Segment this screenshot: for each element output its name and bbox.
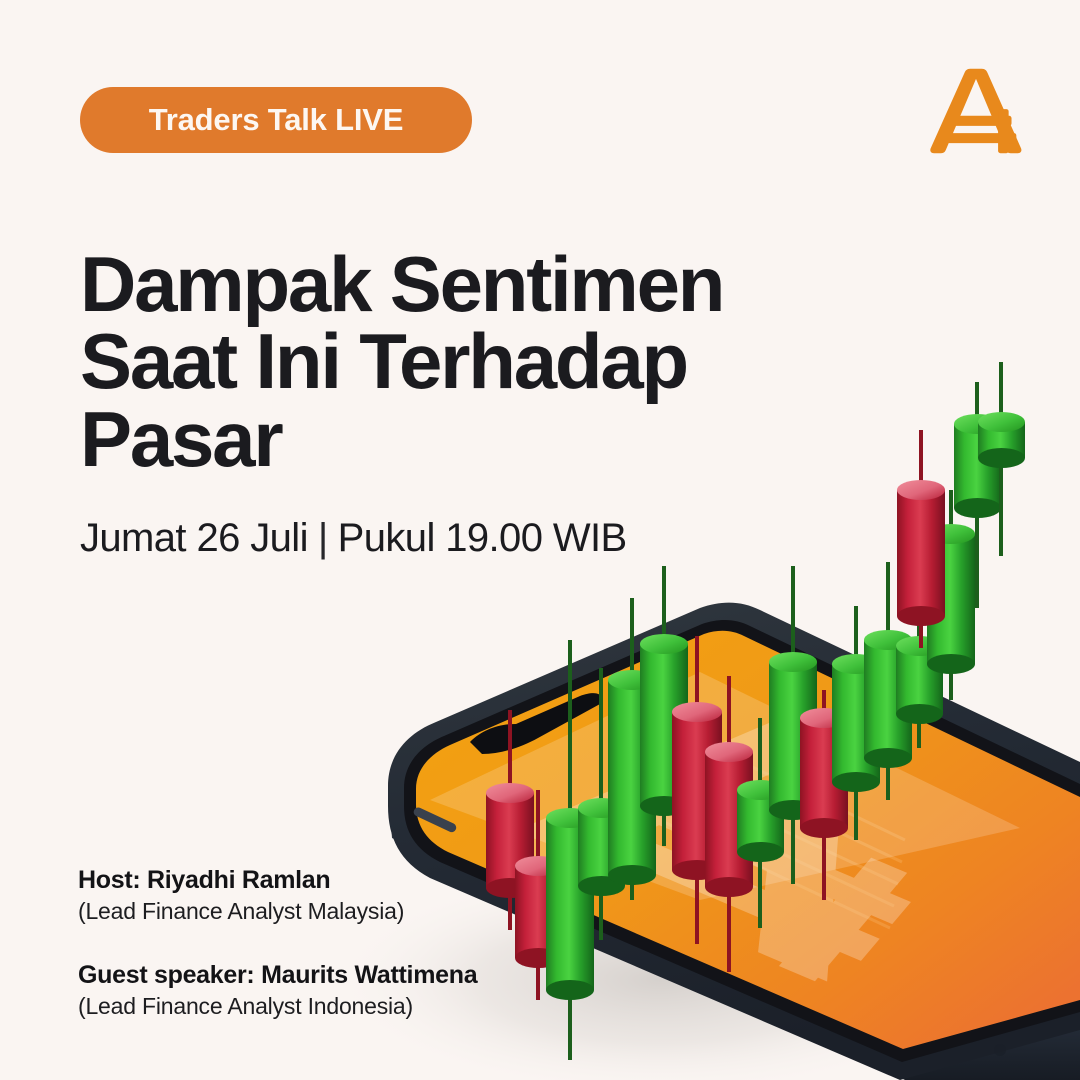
schedule-line: Jumat 26 Juli|Pukul 19.00 WIB [80, 516, 627, 561]
title-line-2: Saat Ini Terhadap [80, 323, 840, 400]
title-line-3: Pasar [80, 401, 840, 478]
credit-guest-name: Guest speaker: Maurits Wattimena [78, 961, 477, 990]
octa-a-logo-icon [928, 62, 1024, 160]
credit-guest: Guest speaker: Maurits Wattimena (Lead F… [78, 961, 477, 1020]
schedule-time: Pukul 19.00 WIB [338, 516, 627, 560]
schedule-separator: | [318, 516, 328, 561]
live-badge[interactable]: Traders Talk LIVE [80, 87, 472, 153]
credits-block: Host: Riyadhi Ramlan (Lead Finance Analy… [78, 866, 477, 1056]
credit-host-name: Host: Riyadhi Ramlan [78, 866, 477, 895]
content-layer: Traders Talk LIVE Dampak Sentimen Saat I… [0, 0, 1080, 1080]
credit-guest-role: (Lead Finance Analyst Indonesia) [78, 993, 477, 1020]
schedule-date: Jumat 26 Juli [80, 516, 308, 560]
poster-canvas: Traders Talk LIVE Dampak Sentimen Saat I… [0, 0, 1080, 1080]
credit-host-role: (Lead Finance Analyst Malaysia) [78, 898, 477, 925]
page-title: Dampak Sentimen Saat Ini Terhadap Pasar [80, 246, 840, 478]
live-badge-label: Traders Talk LIVE [149, 102, 403, 138]
credit-host: Host: Riyadhi Ramlan (Lead Finance Analy… [78, 866, 477, 925]
title-line-1: Dampak Sentimen [80, 246, 840, 323]
